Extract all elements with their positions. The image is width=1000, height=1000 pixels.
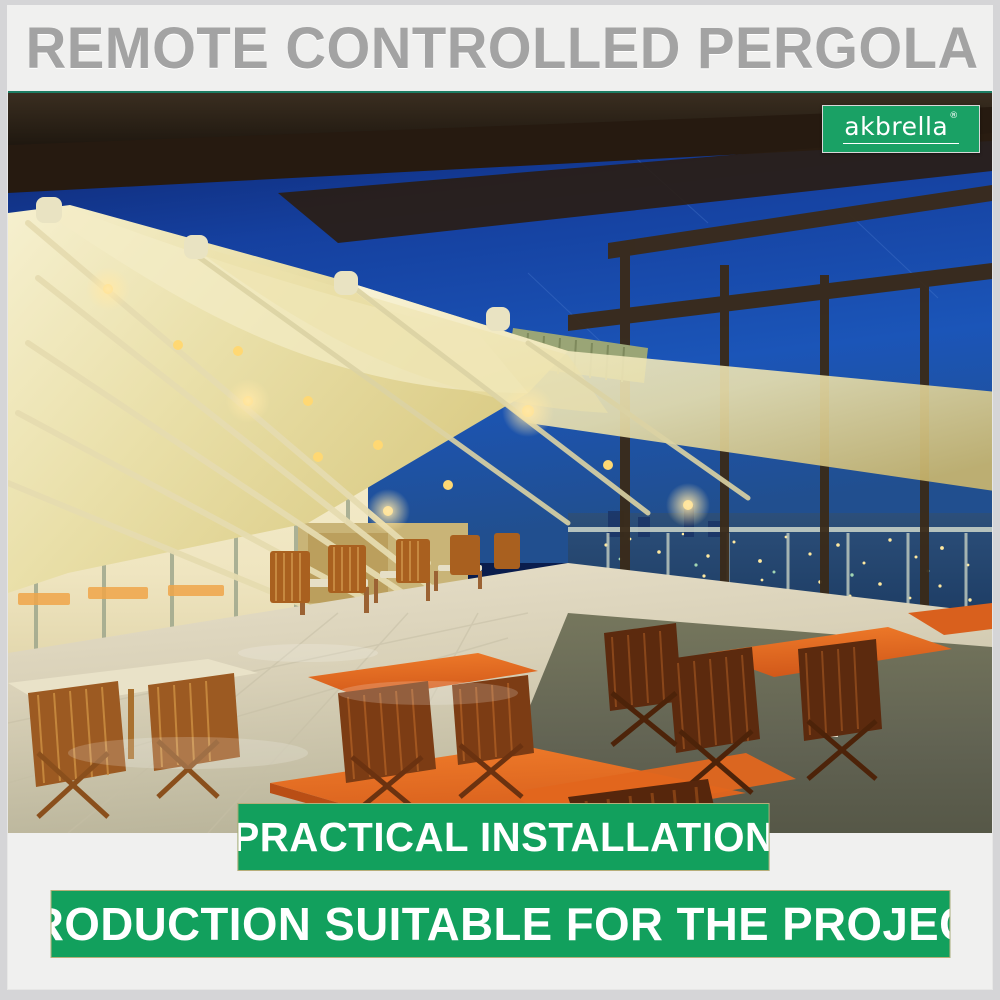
- banner-secondary-label: PRODUCTION SUITABLE FOR THE PROJECT: [51, 897, 951, 951]
- header-bar: REMOTE CONTROLLED PERGOLA: [7, 5, 993, 92]
- brand-logo-underline: [843, 143, 959, 144]
- banner-practical-installation: PRACTICAL INSTALLATION: [237, 803, 769, 871]
- brand-name: akbrella: [844, 112, 948, 141]
- page-title: REMOTE CONTROLLED PERGOLA: [22, 20, 979, 78]
- product-photo: [8, 93, 992, 833]
- banner-production-suitable: PRODUCTION SUITABLE FOR THE PROJECT: [51, 890, 951, 958]
- poster-canvas: REMOTE CONTROLLED PERGOLA: [0, 0, 1000, 1000]
- brand-logo[interactable]: akbrella®: [822, 105, 980, 153]
- brand-logo-text: akbrella®: [842, 114, 960, 139]
- terrace-night-scene: [8, 93, 992, 833]
- banner-primary-label: PRACTICAL INSTALLATION: [237, 814, 769, 861]
- registered-trademark-icon: ®: [949, 111, 959, 121]
